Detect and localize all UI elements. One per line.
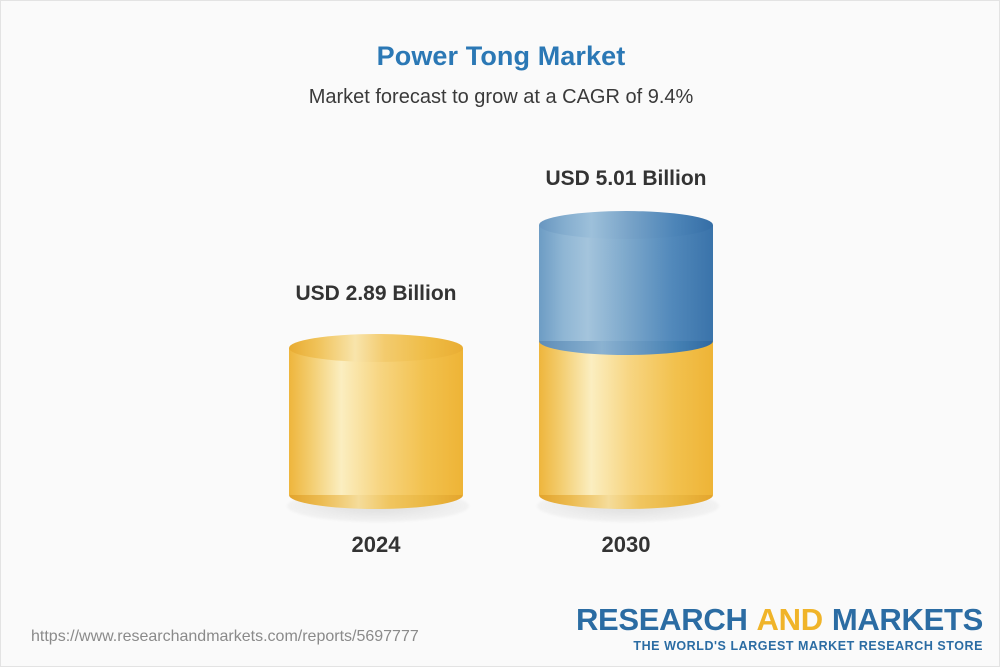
bar-segment-2030-base (539, 341, 713, 509)
logo-wordmark: RESEARCHANDMARKETS (576, 604, 983, 635)
bar-category-label-2024: 2024 (246, 532, 506, 558)
cylinder-body-gold-2030 (539, 341, 713, 495)
logo-word-and: AND (757, 602, 823, 637)
bar-value-label-2024: USD 2.89 Billion (246, 282, 506, 306)
logo-word-markets: MARKETS (832, 602, 983, 637)
cylinder-body-blue-2030 (539, 225, 713, 341)
cylinder-top-cap-2030 (539, 211, 713, 239)
footer: https://www.researchandmarkets.com/repor… (1, 594, 1000, 666)
chart-plot-area: USD 2.89 Billion 2024 USD 5.01 Billion (1, 1, 1000, 667)
bar-category-label-2030: 2030 (496, 532, 756, 558)
logo-word-research: RESEARCH (576, 602, 748, 637)
source-url[interactable]: https://www.researchandmarkets.com/repor… (31, 628, 419, 646)
brand-logo[interactable]: RESEARCHANDMARKETS THE WORLD'S LARGEST M… (576, 604, 983, 653)
bar-value-label-2030: USD 5.01 Billion (496, 167, 756, 191)
cylinder-body-2024 (289, 348, 463, 495)
bar-cylinder-2030[interactable] (539, 211, 713, 509)
logo-tagline: THE WORLD'S LARGEST MARKET RESEARCH STOR… (576, 640, 983, 653)
infographic-canvas: Power Tong Market Market forecast to gro… (0, 0, 1000, 667)
bar-segment-2024-base (289, 334, 463, 509)
bar-cylinder-2024[interactable] (289, 334, 463, 509)
cylinder-top-cap-2024 (289, 334, 463, 362)
bar-segment-2030-growth (539, 211, 713, 355)
